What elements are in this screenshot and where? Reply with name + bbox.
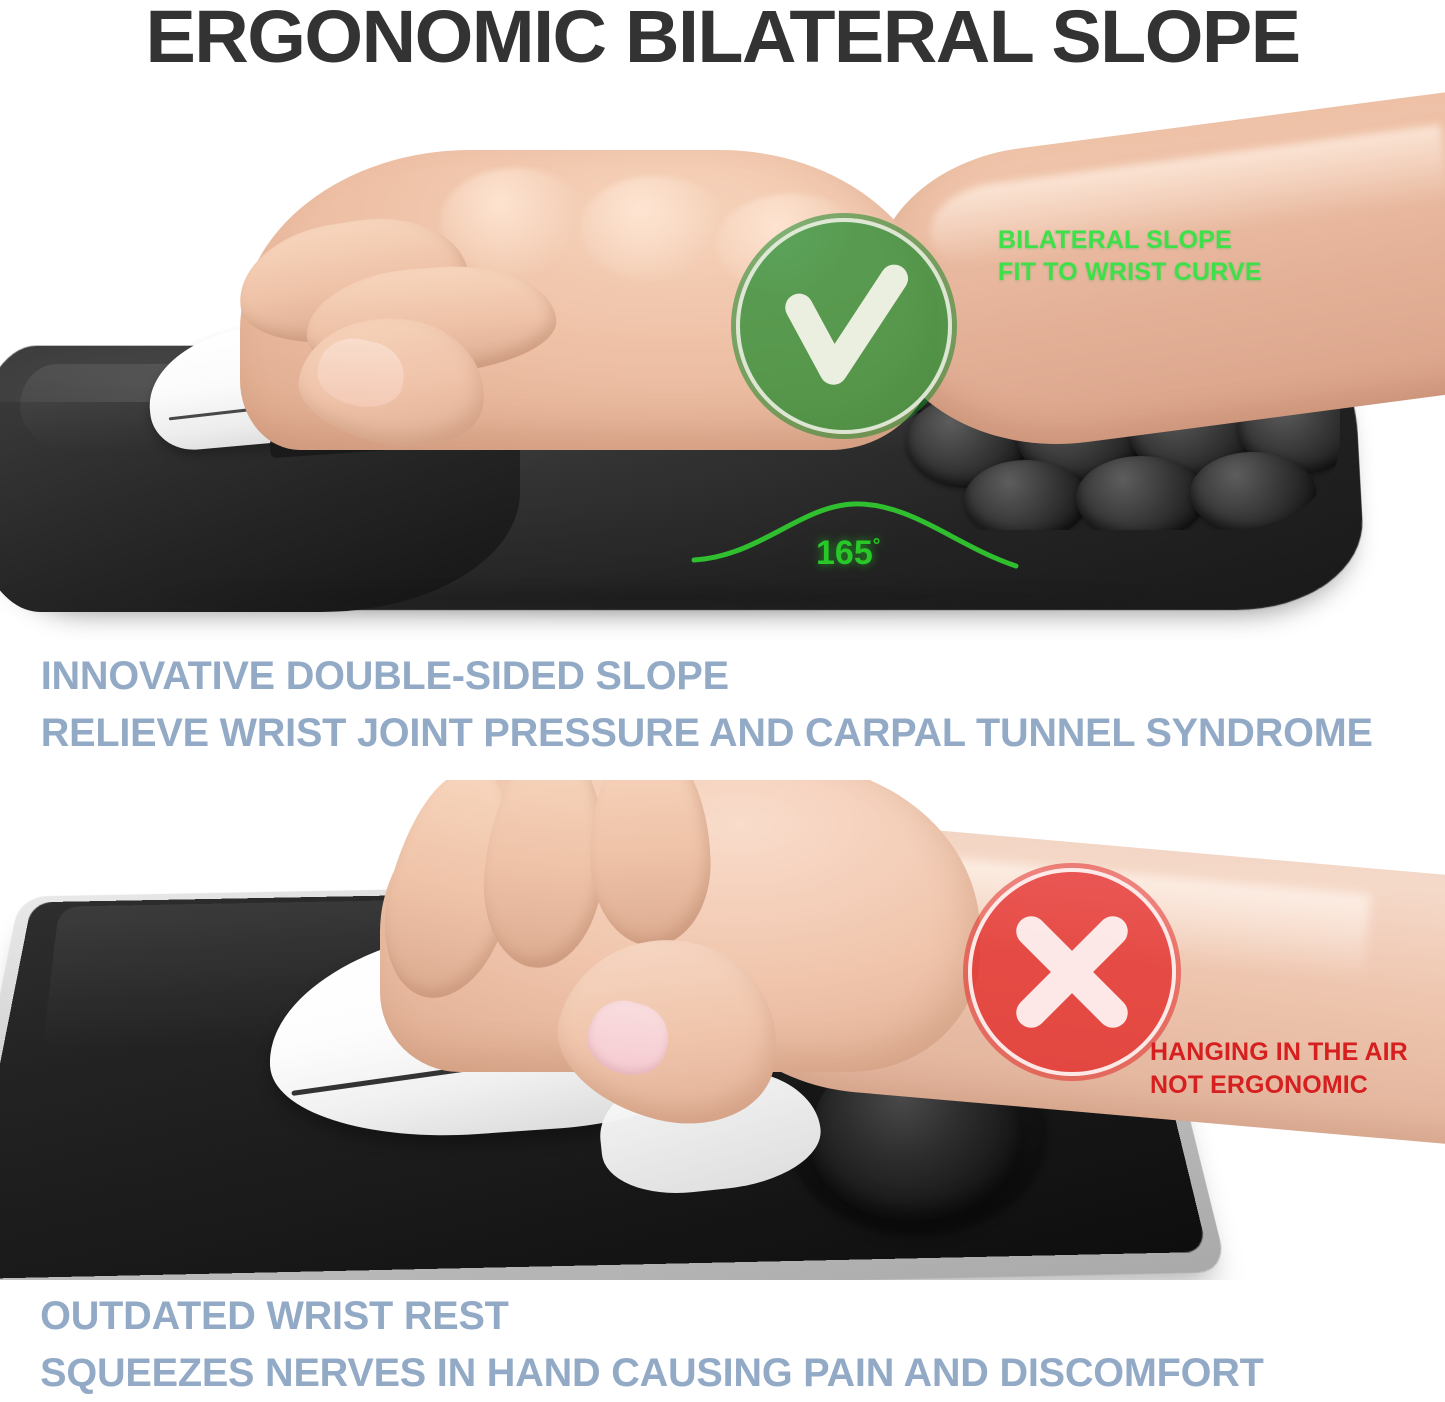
rejected-badge <box>968 868 1176 1076</box>
cross-icon <box>1004 904 1140 1040</box>
callout-red-line1: HANGING IN THE AIR <box>1150 1036 1408 1069</box>
product-infographic: ERGONOMIC BILATERAL SLOPE 165° <box>0 0 1445 1389</box>
not-ergonomic-callout: HANGING IN THE AIR NOT ERGONOMIC <box>1150 1036 1408 1101</box>
top-caption-line1: INNOVATIVE DOUBLE-SIDED SLOPE <box>41 648 1373 705</box>
bottom-caption-line2: SQUEEZES NERVES IN HAND CAUSING PAIN AND… <box>40 1345 1263 1402</box>
callout-red-line2: NOT ERGONOMIC <box>1150 1069 1408 1102</box>
callout-green-line1: BILATERAL SLOPE <box>998 225 1262 257</box>
bilateral-slope-callout: BILATERAL SLOPE FIT TO WRIST CURVE <box>998 225 1262 289</box>
top-photo-panel: 165° <box>0 72 1445 642</box>
bottom-photo-panel <box>0 780 1445 1280</box>
bottom-caption-line1: OUTDATED WRIST REST <box>40 1288 1263 1345</box>
bottom-caption: OUTDATED WRIST REST SQUEEZES NERVES IN H… <box>40 1288 1263 1402</box>
checkmark-icon <box>778 260 910 392</box>
angle-unit: ° <box>873 536 881 557</box>
top-caption: INNOVATIVE DOUBLE-SIDED SLOPE RELIEVE WR… <box>41 648 1373 762</box>
approved-badge <box>736 218 952 434</box>
angle-value: 165 <box>816 534 873 572</box>
pad-drop-shadow <box>10 590 1300 624</box>
angle-label: 165° <box>816 534 880 573</box>
callout-green-line2: FIT TO WRIST CURVE <box>998 257 1262 289</box>
top-caption-line2: RELIEVE WRIST JOINT PRESSURE AND CARPAL … <box>41 705 1373 762</box>
page-title: ERGONOMIC BILATERAL SLOPE <box>0 0 1445 79</box>
